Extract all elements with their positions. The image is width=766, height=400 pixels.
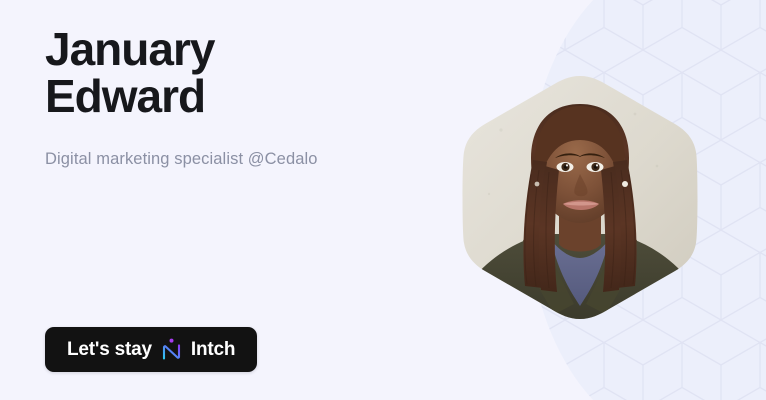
lets-stay-intch-button[interactable]: Let's stay Intch <box>45 327 257 372</box>
intch-n-logo-icon <box>161 338 182 362</box>
first-name: January <box>45 26 465 73</box>
page-title: January Edward <box>45 26 465 120</box>
avatar-photo <box>459 74 701 321</box>
profile-card: January Edward Digital marketing special… <box>0 0 766 400</box>
profile-headline: Digital marketing specialist @Cedalo <box>45 150 318 169</box>
cta-brand-label: Intch <box>191 339 235 361</box>
cta-label-before: Let's stay <box>67 339 152 361</box>
avatar <box>459 74 701 321</box>
last-name: Edward <box>45 73 465 120</box>
